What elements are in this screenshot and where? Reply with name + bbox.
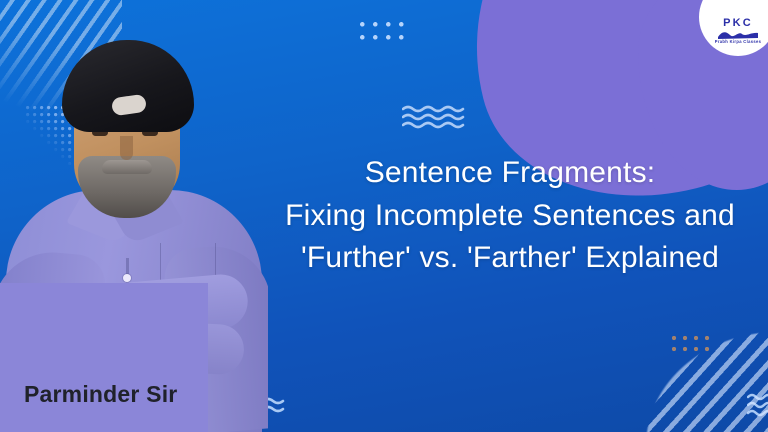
video-thumbnail: PKC Prabh Kirpa Classes (0, 0, 768, 432)
dot-grid-top-center-icon (360, 22, 411, 48)
thumbnail-title: Sentence Fragments: Fixing Incomplete Se… (268, 152, 752, 280)
dot-grid-bottom-right-icon (672, 336, 716, 358)
presenter-moustache (102, 160, 152, 174)
presenter-name-band: Parminder Sir (0, 283, 208, 432)
presenter-turban (62, 40, 194, 132)
logo-swoosh-icon (718, 30, 758, 39)
wave-lines-center-icon (402, 104, 470, 130)
diagonal-stripes-arc-bottom-right-icon (602, 294, 768, 432)
presenter-shirt-button (123, 274, 131, 282)
logo-subtitle-text: Prabh Kirpa Classes (715, 40, 761, 44)
presenter-nose (120, 136, 133, 160)
wave-lines-bottom-right-icon (747, 392, 768, 418)
title-line-3: 'Further' vs. 'Farther' Explained (268, 237, 752, 280)
presenter-name-label: Parminder Sir (24, 381, 177, 408)
title-line-2: Fixing Incomplete Sentences and (268, 195, 752, 238)
logo-mark-text: PKC (723, 18, 753, 29)
title-line-1: Sentence Fragments: (268, 152, 752, 195)
